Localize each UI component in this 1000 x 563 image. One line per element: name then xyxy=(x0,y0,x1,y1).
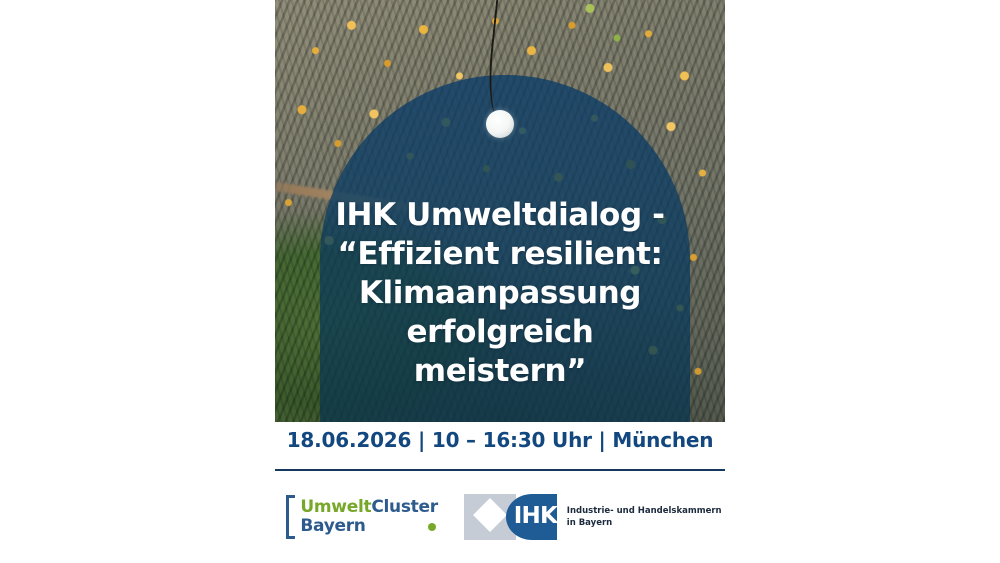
ihk-letters: IHK xyxy=(514,503,557,530)
green-dot-icon xyxy=(428,523,436,531)
ihk-logo[interactable]: IHK Industrie- und Handelskammern in Bay… xyxy=(464,494,722,540)
event-title-line-1: IHK Umweltdialog - xyxy=(303,196,697,235)
event-title-line-4: erfolgreich xyxy=(303,313,697,352)
event-card: IHK Umweltdialog - “Effizient resilient:… xyxy=(275,0,725,563)
ihk-caption: Industrie- und Handelskammern in Bayern xyxy=(567,505,722,529)
hero-image: IHK Umweltdialog - “Effizient resilient:… xyxy=(275,0,725,422)
event-title-line-2: “Effizient resilient: xyxy=(303,235,697,274)
umweltcluster-bayern-logo[interactable]: UmweltCluster Bayern xyxy=(278,495,437,539)
umwelt-word: Umwelt xyxy=(300,497,371,517)
umweltcluster-line-1: UmweltCluster xyxy=(300,498,437,517)
event-title-line-3: Klimaanpassung xyxy=(303,274,697,313)
event-title: IHK Umweltdialog - “Effizient resilient:… xyxy=(275,196,725,391)
event-date-time-location: 18.06.2026 | 10 – 16:30 Uhr | München xyxy=(275,428,725,452)
bayern-word: Bayern xyxy=(300,517,365,536)
ihk-caption-line-2: in Bayern xyxy=(567,517,722,529)
ihk-caption-line-1: Industrie- und Handelskammern xyxy=(567,505,722,517)
umweltcluster-line-2: Bayern xyxy=(300,517,437,536)
divider xyxy=(275,469,725,471)
bracket-icon xyxy=(286,495,295,539)
circle-lamp-icon xyxy=(486,110,514,138)
ihk-mark-icon: IHK xyxy=(464,494,557,540)
logo-strip: UmweltCluster Bayern IHK Industrie- un xyxy=(275,487,725,547)
event-title-line-5: meistern” xyxy=(303,352,697,391)
umweltcluster-wordmark: UmweltCluster Bayern xyxy=(300,495,437,539)
poster-page: IHK Umweltdialog - “Effizient resilient:… xyxy=(0,0,1000,563)
cluster-word: Cluster xyxy=(371,497,437,517)
